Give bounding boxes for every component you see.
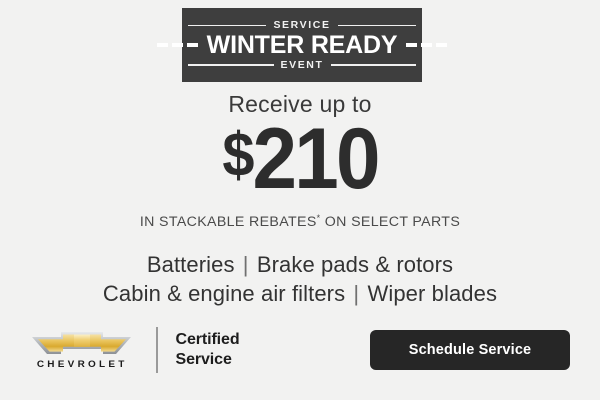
- banner-footer-row: EVENT: [182, 60, 422, 71]
- parts-separator: |: [241, 252, 251, 277]
- offer-amount: $210: [21, 119, 579, 201]
- offer-rebates-text: IN STACKABLE REBATES* ON SELECT PARTS: [0, 213, 600, 230]
- certified-line-1: Certified: [176, 330, 240, 350]
- banner-rule-right-lower: [331, 64, 417, 66]
- rebates-text-before: IN STACKABLE REBATES: [140, 214, 317, 230]
- winter-ready-banner: SERVICE WINTER READY EVENT: [182, 8, 422, 82]
- certified-line-2: Service: [176, 350, 240, 370]
- offer-amount-value: 210: [253, 111, 378, 207]
- banner-eyebrow-row: SERVICE: [182, 20, 422, 31]
- banner-dashes-right-icon: [406, 43, 447, 47]
- banner-title: WINTER READY: [198, 33, 407, 58]
- part-brake-pads-rotors: Brake pads & rotors: [257, 252, 453, 277]
- banner-rule-right: [338, 25, 416, 27]
- chevrolet-wordmark: CHEVROLET: [37, 359, 128, 370]
- certified-service-label: Certified Service: [176, 330, 240, 369]
- currency-symbol: $: [222, 121, 252, 190]
- banner-event-label: EVENT: [281, 60, 324, 71]
- banner-rule-left-lower: [188, 64, 274, 66]
- chevrolet-bowtie-icon: [30, 330, 134, 356]
- offer-block: Receive up to $210 IN STACKABLE REBATES*…: [0, 92, 600, 230]
- brand-divider: [156, 327, 158, 373]
- schedule-service-button[interactable]: Schedule Service: [370, 330, 570, 370]
- parts-line-1: Batteries | Brake pads & rotors: [0, 250, 600, 279]
- banner-rule-left: [188, 25, 266, 27]
- part-wiper-blades: Wiper blades: [367, 281, 497, 306]
- banner-title-row: WINTER READY: [182, 33, 422, 58]
- part-air-filters: Cabin & engine air filters: [103, 281, 345, 306]
- part-batteries: Batteries: [147, 252, 235, 277]
- chevrolet-logo: CHEVROLET: [30, 330, 134, 370]
- rebates-text-after: ON SELECT PARTS: [321, 214, 461, 230]
- parts-list: Batteries | Brake pads & rotors Cabin & …: [0, 250, 600, 308]
- parts-separator: |: [351, 281, 361, 306]
- banner-dashes-left-icon: [157, 43, 198, 47]
- footer-bar: CHEVROLET Certified Service Schedule Ser…: [0, 322, 600, 378]
- banner-eyebrow-label: SERVICE: [273, 20, 330, 31]
- brand-lockup: CHEVROLET Certified Service: [30, 327, 240, 373]
- parts-line-2: Cabin & engine air filters | Wiper blade…: [0, 279, 600, 308]
